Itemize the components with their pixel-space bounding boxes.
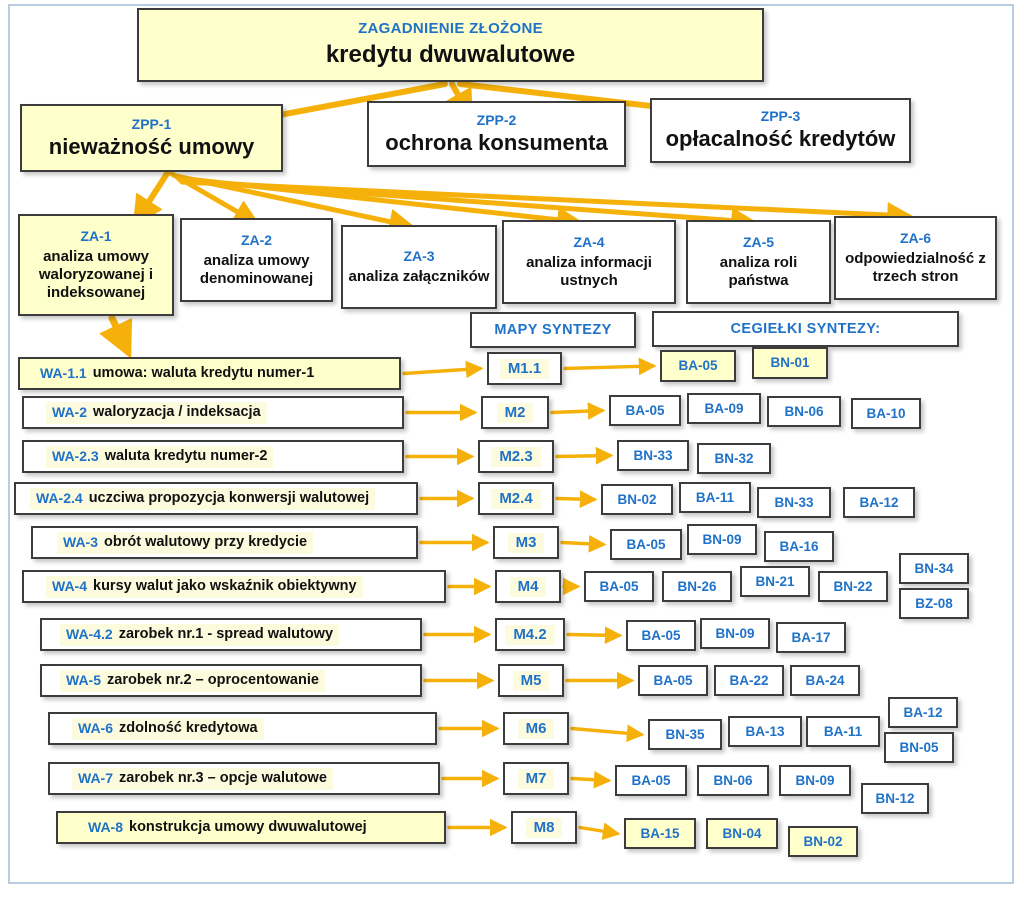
wa-label-highlight: WA-7zarobek nr.3 – opcje walutowe [72, 768, 333, 790]
brick-code: BA-05 [599, 579, 638, 595]
za-6-code: ZA-6 [900, 230, 931, 246]
za-4-desc: analiza informacji ustnych [509, 254, 669, 290]
brick-code: BN-33 [774, 495, 813, 511]
brick-code: BA-05 [631, 773, 670, 789]
brick-bn-33[interactable]: BN-33 [617, 440, 689, 471]
node-map-M1-1[interactable]: M1.1 [487, 352, 562, 385]
wa-label-highlight: WA-2waloryzacja / indeksacja [46, 402, 267, 424]
brick-bn-09[interactable]: BN-09 [700, 618, 770, 649]
map-code: M2.4 [499, 490, 532, 507]
zpp-3-desc: opłacalność kredytów [666, 126, 896, 152]
header-mapy-syntezy: MAPY SYNTEZY [470, 312, 636, 348]
brick-code: BA-22 [729, 673, 768, 689]
node-wa-6[interactable]: WA-6zdolność kredytowa [48, 712, 437, 745]
node-wa-2-3[interactable]: WA-2.3waluta kredytu numer-2 [22, 440, 404, 473]
wa-desc: waluta kredytu numer-2 [105, 448, 268, 465]
brick-bn-02[interactable]: BN-02 [601, 484, 673, 515]
node-wa-2[interactable]: WA-2waloryzacja / indeksacja [22, 396, 404, 429]
node-map-M8[interactable]: M8 [511, 811, 577, 844]
brick-code: BN-09 [702, 532, 741, 548]
node-wa-4-2[interactable]: WA-4.2zarobek nr.1 - spread walutowy [40, 618, 422, 651]
brick-ba-05[interactable]: BA-05 [615, 765, 687, 796]
node-za-2[interactable]: ZA-2 analiza umowy denominowanej [180, 218, 333, 302]
map-label-highlight: M8 [526, 818, 563, 838]
wa-desc: zdolność kredytowa [119, 720, 258, 737]
wa-code: WA-2.3 [52, 448, 99, 464]
node-wa-4[interactable]: WA-4kursy walut jako wskaźnik obiektywny [22, 570, 446, 603]
brick-ba-10[interactable]: BA-10 [851, 398, 921, 429]
brick-bn-12[interactable]: BN-12 [861, 783, 929, 814]
brick-ba-13[interactable]: BA-13 [728, 716, 802, 747]
map-code: M2.3 [499, 448, 532, 465]
brick-code: BA-05 [625, 403, 664, 419]
brick-bn-06[interactable]: BN-06 [697, 765, 769, 796]
wa-desc: zarobek nr.3 – opcje walutowe [119, 770, 327, 787]
brick-code: BA-15 [640, 826, 679, 842]
node-wa-3[interactable]: WA-3obrót walutowy przy kredycie [31, 526, 418, 559]
brick-ba-05[interactable]: BA-05 [610, 529, 682, 560]
brick-ba-16[interactable]: BA-16 [764, 531, 834, 562]
brick-bn-35[interactable]: BN-35 [648, 719, 722, 750]
brick-bn-01[interactable]: BN-01 [752, 347, 828, 379]
brick-code: BN-04 [722, 826, 761, 842]
brick-code: BN-35 [665, 727, 704, 743]
brick-code: BN-09 [715, 626, 754, 642]
za-5-desc: analiza roli państwa [693, 254, 824, 290]
node-wa-1-1[interactable]: WA-1.1umowa: waluta kredytu numer-1 [18, 357, 401, 390]
brick-bn-02[interactable]: BN-02 [788, 826, 858, 857]
wa-label-highlight: WA-6zdolność kredytowa [72, 718, 264, 740]
brick-code: BA-24 [805, 673, 844, 689]
brick-bn-09[interactable]: BN-09 [779, 765, 851, 796]
node-za-5[interactable]: ZA-5 analiza roli państwa [686, 220, 831, 304]
za-2-desc: analiza umowy denominowanej [187, 252, 326, 288]
brick-ba-12[interactable]: BA-12 [888, 697, 958, 728]
brick-code: BA-16 [779, 539, 818, 555]
header-mapy-label: MAPY SYNTEZY [494, 322, 611, 339]
wa-code: WA-6 [78, 720, 113, 736]
wa-desc: umowa: waluta kredytu numer-1 [93, 365, 315, 382]
wa-code: WA-5 [66, 672, 101, 688]
brick-ba-11[interactable]: BA-11 [806, 716, 880, 747]
brick-ba-05[interactable]: BA-05 [584, 571, 654, 602]
wa-code: WA-2.4 [36, 490, 83, 506]
wa-desc: zarobek nr.1 - spread walutowy [119, 626, 333, 643]
map-label-highlight: M7 [518, 769, 555, 789]
wa-desc: konstrukcja umowy dwuwalutowej [129, 819, 367, 836]
brick-code: BA-11 [696, 490, 734, 506]
map-label-highlight: M2.3 [491, 447, 540, 467]
wa-label-highlight: WA-4kursy walut jako wskaźnik obiektywny [46, 576, 363, 598]
brick-bn-09[interactable]: BN-09 [687, 524, 757, 555]
wa-desc: waloryzacja / indeksacja [93, 404, 261, 421]
map-label-highlight: M4.2 [505, 625, 554, 645]
brick-bn-32[interactable]: BN-32 [697, 443, 771, 474]
map-code: M7 [526, 770, 547, 787]
brick-ba-17[interactable]: BA-17 [776, 622, 846, 653]
brick-code: BN-32 [714, 451, 753, 467]
brick-ba-12[interactable]: BA-12 [843, 487, 915, 518]
za-1-code: ZA-1 [80, 228, 111, 244]
node-map-M7[interactable]: M7 [503, 762, 569, 795]
brick-code: BN-09 [795, 773, 834, 789]
wa-desc: obrót walutowy przy kredycie [104, 534, 307, 551]
node-wa-8[interactable]: WA-8konstrukcja umowy dwuwalutowej [56, 811, 446, 844]
brick-code: BN-21 [755, 574, 794, 590]
header-cegielki-syntezy: CEGIEŁKI SYNTEZY: [652, 311, 959, 347]
node-zpp-3[interactable]: ZPP-3 opłacalność kredytów [650, 98, 911, 163]
wa-label-highlight: WA-1.1umowa: waluta kredytu numer-1 [34, 363, 320, 385]
map-code: M6 [526, 720, 547, 737]
map-code: M8 [534, 819, 555, 836]
brick-bn-05[interactable]: BN-05 [884, 732, 954, 763]
brick-code: BA-10 [866, 406, 905, 422]
brick-bz-08[interactable]: BZ-08 [899, 588, 969, 619]
map-code: M1.1 [508, 360, 541, 377]
wa-label-highlight: WA-8konstrukcja umowy dwuwalutowej [82, 817, 373, 839]
brick-code: BN-06 [713, 773, 752, 789]
brick-code: BN-06 [784, 404, 823, 420]
wa-code: WA-7 [78, 770, 113, 786]
brick-code: BN-01 [770, 355, 809, 371]
root-node-zagadnienie[interactable]: ZAGADNIENIE ZŁOŻONE kredytu dwuwalutowe [137, 8, 764, 82]
brick-bn-04[interactable]: BN-04 [706, 818, 778, 849]
wa-desc: zarobek nr.2 – oprocentowanie [107, 672, 319, 689]
node-map-M2-4[interactable]: M2.4 [478, 482, 554, 515]
brick-code: BA-05 [678, 358, 717, 374]
brick-code: BN-22 [833, 579, 872, 595]
za-4-code: ZA-4 [573, 234, 604, 250]
wa-desc: kursy walut jako wskaźnik obiektywny [93, 578, 357, 595]
brick-bn-34[interactable]: BN-34 [899, 553, 969, 584]
wa-code: WA-3 [63, 534, 98, 550]
node-map-M5[interactable]: M5 [498, 664, 564, 697]
wa-label-highlight: WA-5zarobek nr.2 – oprocentowanie [60, 670, 325, 692]
map-code: M5 [521, 672, 542, 689]
node-wa-7[interactable]: WA-7zarobek nr.3 – opcje walutowe [48, 762, 440, 795]
wa-desc: uczciwa propozycja konwersji walutowej [89, 490, 369, 507]
node-wa-2-4[interactable]: WA-2.4uczciwa propozycja konwersji walut… [14, 482, 418, 515]
map-code: M4.2 [513, 626, 546, 643]
zpp-3-code: ZPP-3 [761, 108, 801, 124]
wa-label-highlight: WA-4.2zarobek nr.1 - spread walutowy [60, 624, 339, 646]
brick-code: BZ-08 [915, 596, 953, 612]
brick-ba-09[interactable]: BA-09 [687, 393, 761, 424]
zpp-1-desc: nieważność umowy [49, 134, 254, 160]
brick-bn-21[interactable]: BN-21 [740, 566, 810, 597]
node-za-4[interactable]: ZA-4 analiza informacji ustnych [502, 220, 676, 304]
brick-code: BN-12 [875, 791, 914, 807]
root-code: ZAGADNIENIE ZŁOŻONE [358, 20, 543, 37]
brick-bn-06[interactable]: BN-06 [767, 396, 841, 427]
node-za-6[interactable]: ZA-6 odpowiedzialność z trzech stron [834, 216, 997, 300]
zpp-2-code: ZPP-2 [477, 112, 517, 128]
wa-code: WA-4 [52, 578, 87, 594]
header-cegielki-label: CEGIEŁKI SYNTEZY: [731, 321, 881, 338]
za-5-code: ZA-5 [743, 234, 774, 250]
diagram-canvas: ZAGADNIENIE ZŁOŻONE kredytu dwuwalutowe … [0, 0, 1024, 902]
wa-code: WA-4.2 [66, 626, 113, 642]
zpp-1-code: ZPP-1 [132, 116, 172, 132]
node-map-M2-3[interactable]: M2.3 [478, 440, 554, 473]
za-2-code: ZA-2 [241, 232, 272, 248]
brick-ba-05[interactable]: BA-05 [660, 350, 736, 382]
brick-ba-15[interactable]: BA-15 [624, 818, 696, 849]
za-3-code: ZA-3 [403, 248, 434, 264]
map-label-highlight: M1.1 [500, 359, 549, 379]
za-6-desc: odpowiedzialność z trzech stron [841, 250, 990, 286]
brick-code: BA-11 [824, 724, 862, 740]
wa-code: WA-2 [52, 404, 87, 420]
node-za-1[interactable]: ZA-1 analiza umowy waloryzowanej i indek… [18, 214, 174, 316]
map-label-highlight: M4 [510, 577, 547, 597]
brick-code: BA-12 [859, 495, 898, 511]
wa-label-highlight: WA-2.4uczciwa propozycja konwersji walut… [30, 488, 375, 510]
wa-label-highlight: WA-2.3waluta kredytu numer-2 [46, 446, 273, 468]
brick-ba-05[interactable]: BA-05 [609, 395, 681, 426]
wa-code: WA-8 [88, 819, 123, 835]
brick-code: BA-12 [903, 705, 942, 721]
brick-code: BA-09 [704, 401, 743, 417]
node-map-M4-2[interactable]: M4.2 [495, 618, 565, 651]
brick-ba-05[interactable]: BA-05 [626, 620, 696, 651]
brick-ba-24[interactable]: BA-24 [790, 665, 860, 696]
brick-code: BN-26 [677, 579, 716, 595]
brick-bn-22[interactable]: BN-22 [818, 571, 888, 602]
brick-code: BA-05 [626, 537, 665, 553]
map-code: M4 [518, 578, 539, 595]
node-wa-5[interactable]: WA-5zarobek nr.2 – oprocentowanie [40, 664, 422, 697]
brick-ba-22[interactable]: BA-22 [714, 665, 784, 696]
node-map-M4[interactable]: M4 [495, 570, 561, 603]
brick-ba-05[interactable]: BA-05 [638, 665, 708, 696]
brick-code: BA-13 [745, 724, 784, 740]
node-map-M2[interactable]: M2 [481, 396, 549, 429]
node-za-3[interactable]: ZA-3 analiza załączników [341, 225, 497, 309]
brick-code: BA-17 [791, 630, 830, 646]
node-zpp-2[interactable]: ZPP-2 ochrona konsumenta [367, 101, 626, 167]
brick-code: BN-02 [617, 492, 656, 508]
brick-code: BN-02 [803, 834, 842, 850]
node-map-M6[interactable]: M6 [503, 712, 569, 745]
brick-code: BN-33 [633, 448, 672, 464]
brick-code: BA-05 [653, 673, 692, 689]
map-code: M2 [505, 404, 526, 421]
brick-code: BN-34 [914, 561, 953, 577]
za-1-desc: analiza umowy waloryzowanej i indeksowan… [25, 248, 167, 302]
brick-bn-26[interactable]: BN-26 [662, 571, 732, 602]
map-label-highlight: M3 [508, 533, 545, 553]
node-zpp-1[interactable]: ZPP-1 nieważność umowy [20, 104, 283, 172]
zpp-2-desc: ochrona konsumenta [385, 130, 607, 156]
wa-code: WA-1.1 [40, 365, 87, 381]
brick-code: BN-05 [899, 740, 938, 756]
brick-ba-11[interactable]: BA-11 [679, 482, 751, 513]
za-3-desc: analiza załączników [349, 268, 490, 286]
map-label-highlight: M5 [513, 671, 550, 691]
root-desc: kredytu dwuwalutowe [326, 41, 575, 70]
brick-bn-33[interactable]: BN-33 [757, 487, 831, 518]
brick-code: BA-05 [641, 628, 680, 644]
map-code: M3 [516, 534, 537, 551]
map-label-highlight: M6 [518, 719, 555, 739]
wa-label-highlight: WA-3obrót walutowy przy kredycie [57, 532, 313, 554]
map-label-highlight: M2.4 [491, 489, 540, 509]
node-map-M3[interactable]: M3 [493, 526, 559, 559]
map-label-highlight: M2 [497, 403, 534, 423]
